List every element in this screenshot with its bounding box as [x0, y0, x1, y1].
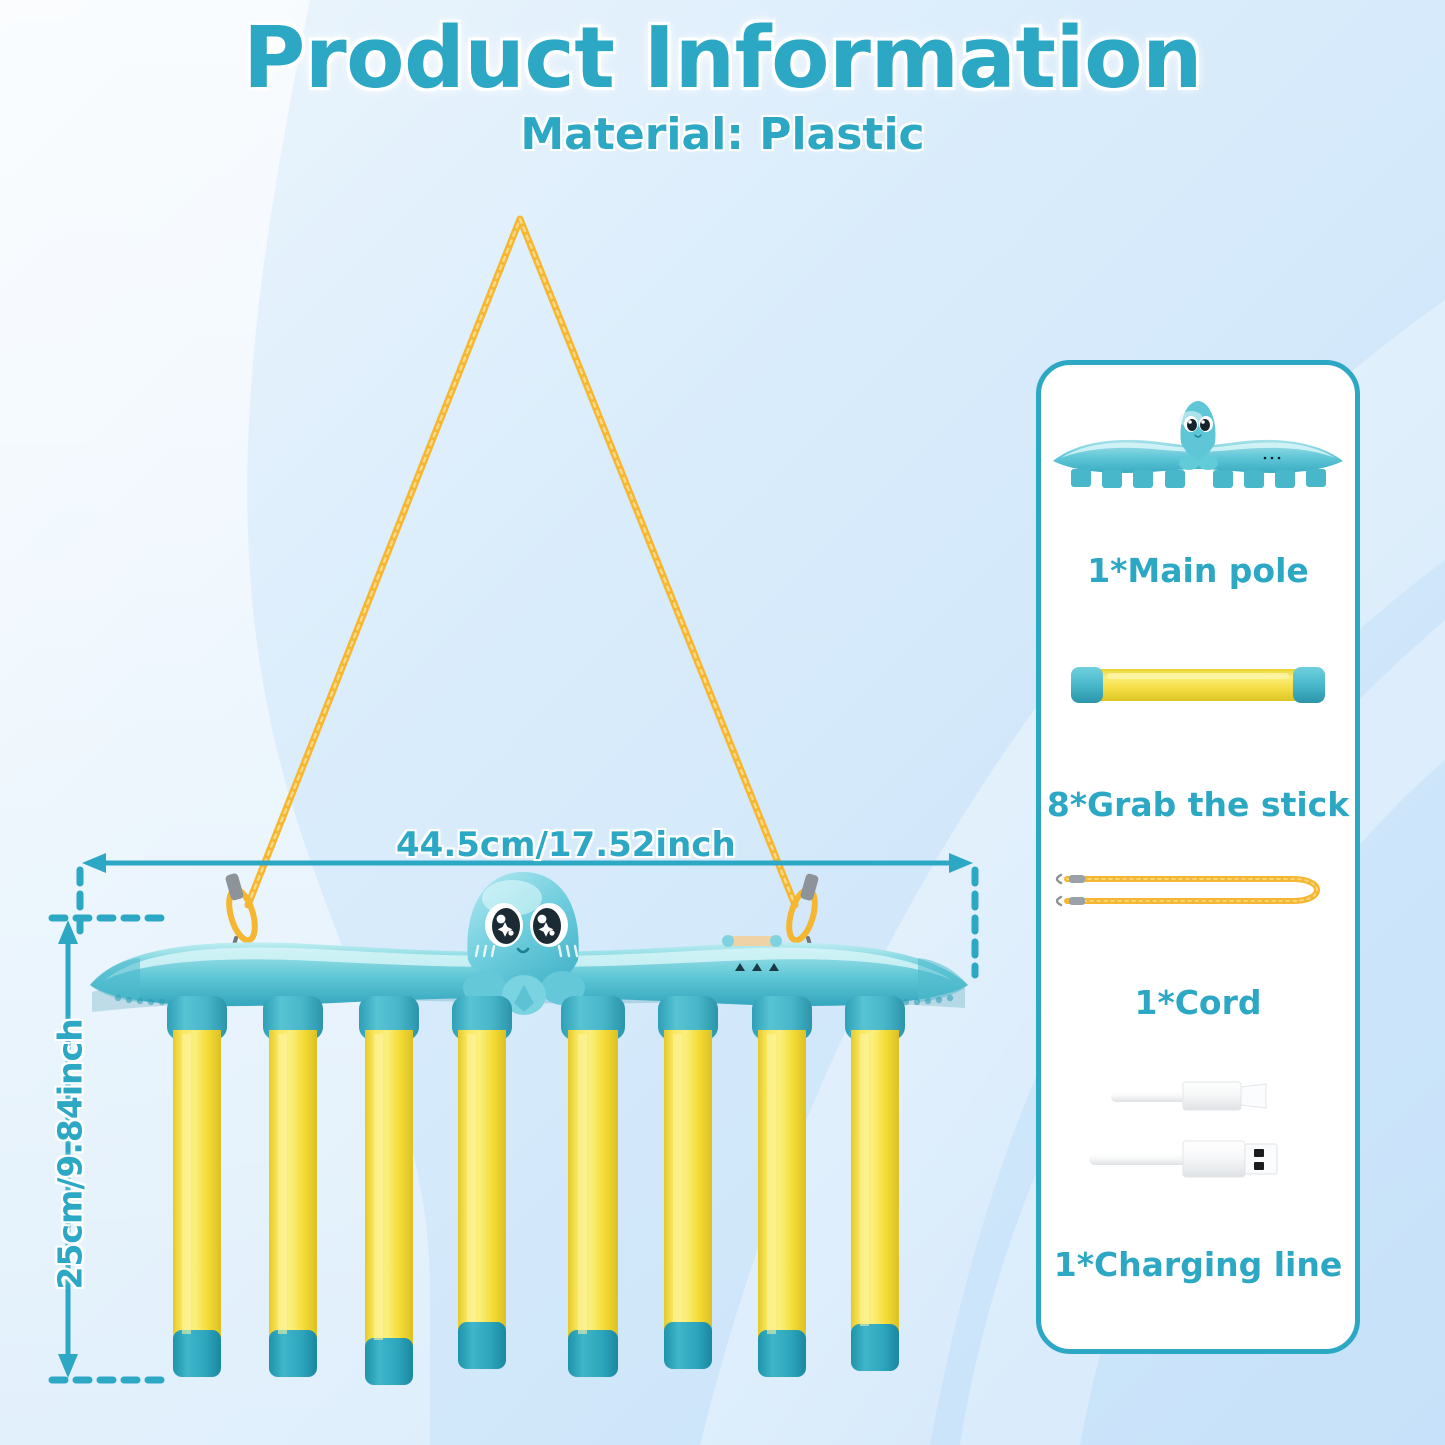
product-info-canvas: Product Information Material: Plastic: [0, 0, 1445, 1445]
grab-stick: [658, 996, 718, 1369]
part-label-main-pole: 1*Main pole: [1041, 551, 1355, 590]
parts-list-panel: 1*Main pole 8*Grab the st: [1036, 360, 1360, 1354]
cord-figure: [1041, 855, 1355, 925]
grab-stick: [167, 996, 227, 1377]
octopus-eye-right: [530, 903, 568, 947]
grab-stick: [561, 996, 625, 1377]
octopus-head: [463, 872, 585, 1015]
part-label-grab-stick: 8*Grab the stick: [1041, 785, 1355, 824]
page-title: Product Information: [0, 16, 1445, 101]
usb-a-connector: [1089, 1141, 1277, 1177]
grab-stick: [845, 996, 905, 1371]
width-dimension-label: 44.5cm/17.52inch: [396, 825, 736, 865]
main-pole-figure: [1041, 391, 1355, 501]
page-subtitle: Material: Plastic: [0, 109, 1445, 160]
octopus-eye-left: [485, 903, 523, 947]
hanging-cord: [248, 219, 795, 905]
grab-stick: [752, 996, 812, 1377]
grab-stick: [359, 996, 419, 1385]
grab-sticks: [167, 996, 905, 1385]
part-label-charging-line: 1*Charging line: [1041, 1245, 1355, 1284]
grab-stick: [452, 996, 512, 1369]
charging-line-figure: [1041, 1065, 1355, 1215]
grab-stick-figure: [1041, 655, 1355, 715]
usb-c-connector: [1111, 1082, 1266, 1110]
part-label-cord: 1*Cord: [1041, 983, 1355, 1022]
grab-stick: [263, 996, 323, 1377]
height-dimension-label: 25cm/9.84inch: [51, 1030, 90, 1290]
